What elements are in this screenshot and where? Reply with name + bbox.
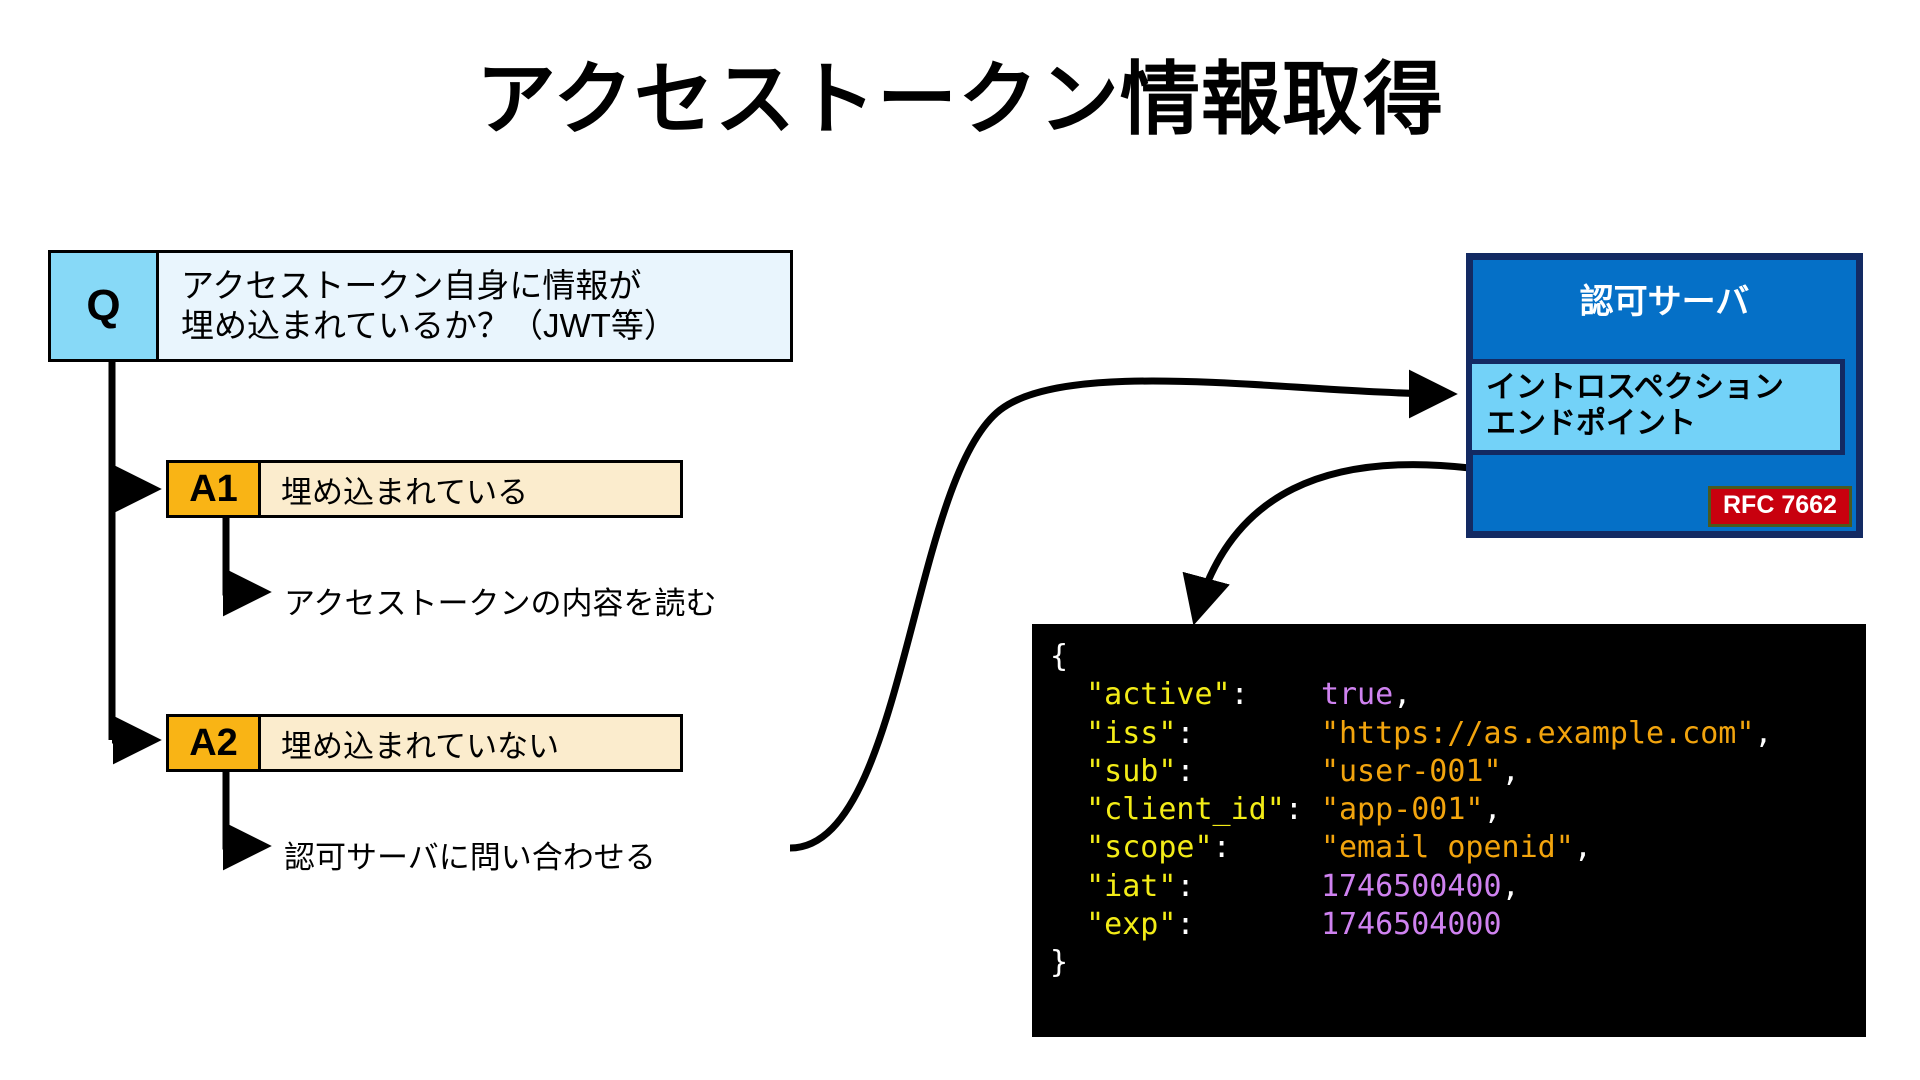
arrow-to-json-response <box>1196 465 1470 616</box>
page-title: アクセストークン情報取得 <box>0 60 1920 140</box>
question-box: Q アクセストークン自身に情報が 埋め込まれているか？（JWT等） <box>48 250 793 362</box>
rfc-badge: RFC 7662 <box>1708 486 1852 527</box>
question-tag: Q <box>51 253 159 359</box>
slide-canvas: アクセストークン情報取得 Q アクセストークン自身に情報が 埋 <box>0 0 1920 1080</box>
authorization-server-title: 認可サーバ <box>1473 274 1856 323</box>
answer-tag-a2: A2 <box>169 717 261 769</box>
json-response-code: { "active": true, "iss": "https://as.exa… <box>1050 638 1866 982</box>
question-line-1: アクセストークン自身に情報が <box>181 266 677 306</box>
answer-box-a2: A2 埋め込まれていない <box>166 714 683 772</box>
answer-box-a1: A1 埋め込まれている <box>166 460 683 518</box>
answer-tag-a1: A1 <box>169 463 261 515</box>
answer-sublabel-a2: 認可サーバに問い合わせる <box>284 832 656 877</box>
introspection-endpoint-line-2: エンドポイント <box>1486 406 1840 442</box>
answer-label-a1: 埋め込まれている <box>261 463 680 515</box>
tree-connectors <box>112 362 262 846</box>
question-body: アクセストークン自身に情報が 埋め込まれているか？（JWT等） <box>159 253 790 359</box>
introspection-endpoint-box: イントロスペクション エンドポイント <box>1467 359 1845 455</box>
answer-sublabel-a1: アクセストークンの内容を読む <box>284 578 716 623</box>
answer-label-a2: 埋め込まれていない <box>261 717 680 769</box>
question-line-2: 埋め込まれているか？（JWT等） <box>181 306 677 346</box>
introspection-endpoint-line-1: イントロスペクション <box>1486 370 1840 406</box>
json-response-block: { "active": true, "iss": "https://as.exa… <box>1032 624 1866 1037</box>
